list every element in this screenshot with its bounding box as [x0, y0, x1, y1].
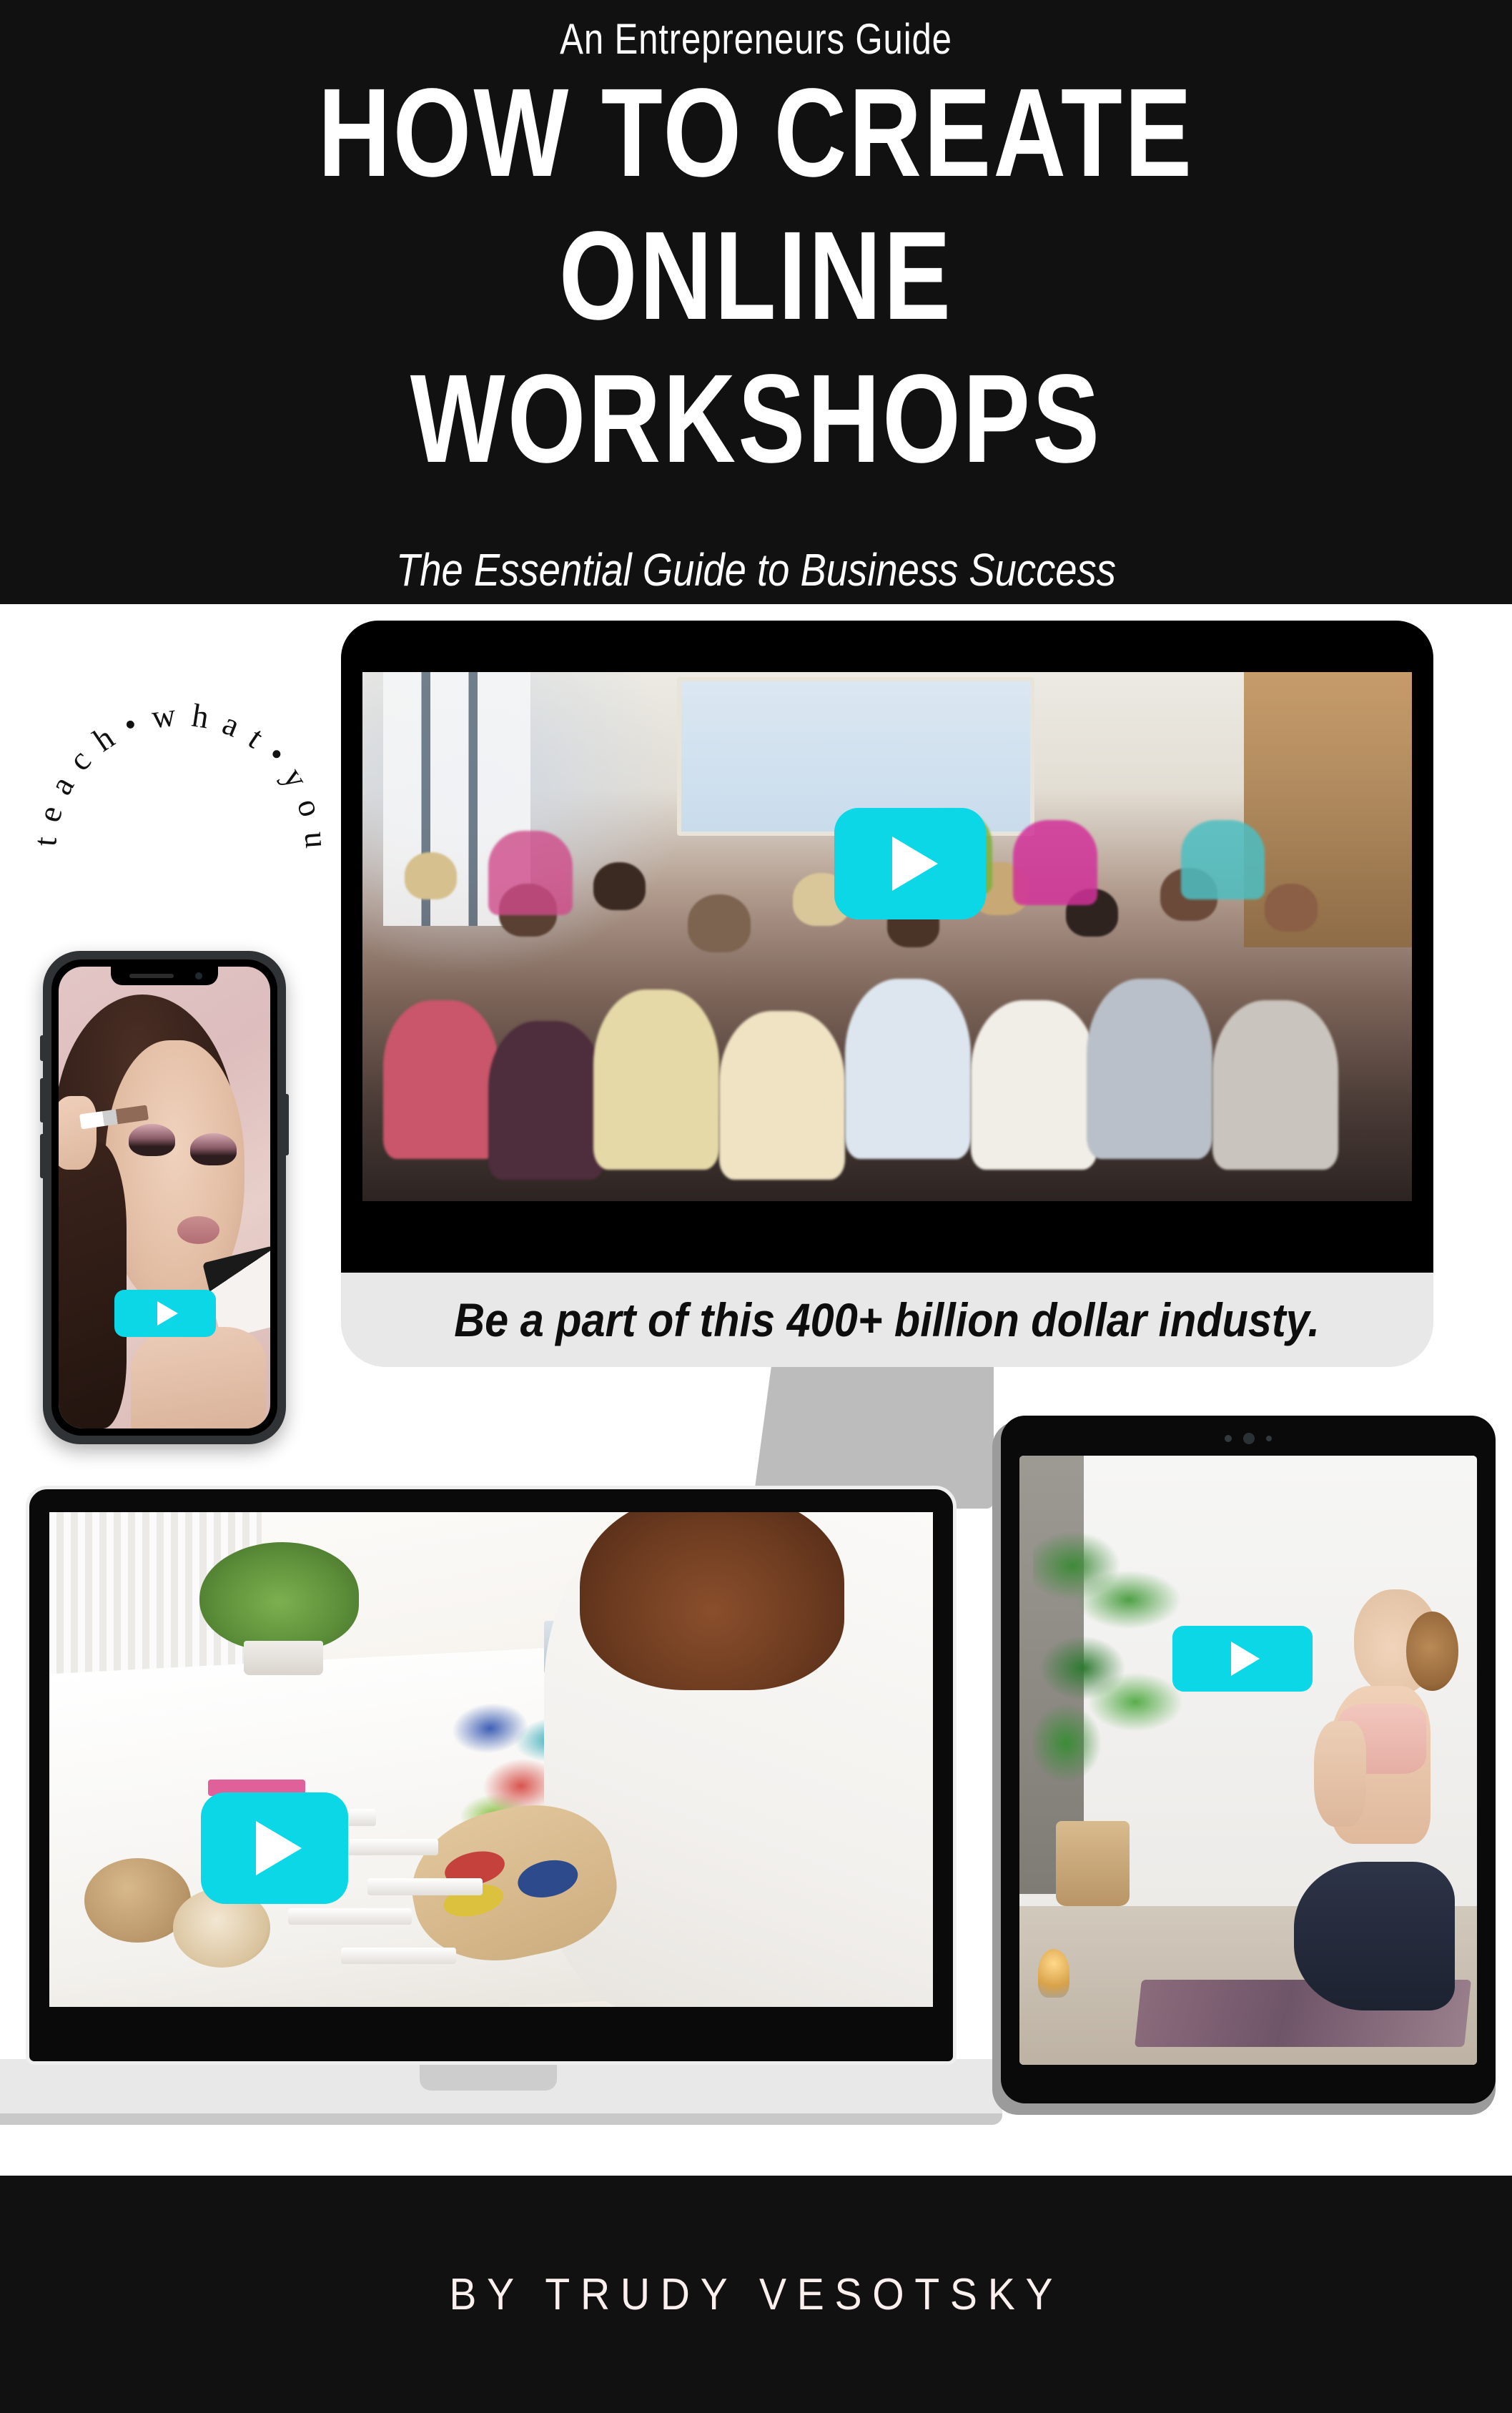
- play-icon[interactable]: [1172, 1626, 1313, 1692]
- phone-power-button: [284, 1094, 289, 1155]
- teach-what-you-love-badge: t e a c h • w h a t • y o u • l o v e: [29, 615, 329, 915]
- play-icon[interactable]: [834, 808, 986, 919]
- plant-pot: [244, 1641, 323, 1675]
- plant-basket: [1056, 1821, 1129, 1906]
- play-icon[interactable]: [201, 1792, 348, 1904]
- tablet-camera-icons: [1225, 1433, 1272, 1444]
- monitor-screen: [362, 672, 1412, 1201]
- eyebrow-text: An Entrepreneurs Guide: [136, 14, 1375, 64]
- phone-front-camera-icon: [195, 972, 202, 979]
- laptop-mockup: [26, 1486, 957, 2065]
- footer-band: BY TRUDY VESOTSKY: [0, 2176, 1512, 2413]
- tablet-camera-icon: [1243, 1433, 1255, 1444]
- potted-plant: [199, 1542, 358, 1651]
- play-triangle: [256, 1821, 302, 1875]
- title-line-2: ONLINE: [152, 213, 1361, 339]
- model-hand-lower: [131, 1327, 266, 1428]
- phone-notch: [111, 967, 218, 985]
- tablet-screen: [1019, 1456, 1477, 2065]
- phone-speaker: [129, 974, 174, 978]
- makeup-tutorial-photo: [59, 967, 270, 1428]
- person-leggings: [1294, 1862, 1455, 2011]
- tablet-sensor-icon: [1225, 1435, 1232, 1442]
- conference-audience-photo: [362, 672, 1412, 1201]
- phone-screen: [59, 967, 270, 1428]
- badge-arc-text: t e a c h • w h a t • y o u • l o v e: [29, 615, 329, 852]
- laptop-base-lip: [0, 2113, 1002, 2125]
- header-band: An Entrepreneurs Guide HOW TO CREATE ONL…: [0, 0, 1512, 604]
- play-triangle: [157, 1301, 178, 1326]
- artist-hair: [580, 1512, 845, 1690]
- author-byline: BY TRUDY VESOTSKY: [449, 2269, 1063, 2320]
- title-line-3: WORKSHOPS: [152, 356, 1361, 482]
- model-lips: [177, 1216, 219, 1244]
- title-line-1: HOW TO CREATE: [152, 70, 1361, 196]
- phone-volume-up-button: [40, 1078, 45, 1122]
- tagline-text: Be a part of this 400+ billion dollar in…: [455, 1293, 1320, 1347]
- badge-text-path: t e a c h • w h a t • y o u • l o v e: [29, 615, 329, 852]
- subtitle-text: The Essential Guide to Business Success: [114, 543, 1399, 596]
- person-hair-bun: [1406, 1612, 1458, 1690]
- model-eye-left: [129, 1124, 175, 1156]
- yoga-meditation-photo: [1019, 1456, 1477, 2065]
- tablet-indicator-icon: [1266, 1436, 1272, 1441]
- smartphone-mockup: [43, 951, 286, 1444]
- laptop-base: [0, 2059, 1002, 2125]
- laptop-screen: [49, 1512, 933, 2007]
- art-workshop-photo: [49, 1512, 933, 2007]
- tagline-banner: Be a part of this 400+ billion dollar in…: [341, 1273, 1433, 1367]
- book-cover: An Entrepreneurs Guide HOW TO CREATE ONL…: [0, 0, 1512, 2413]
- play-triangle: [1231, 1642, 1260, 1676]
- phone-volume-down-button: [40, 1134, 45, 1178]
- play-icon[interactable]: [114, 1290, 216, 1337]
- model-eye-right: [190, 1133, 237, 1165]
- desktop-monitor-mockup: [341, 621, 1433, 1273]
- phone-mute-switch: [40, 1035, 45, 1061]
- phone-bezel: [51, 959, 277, 1436]
- makeup-hand: [59, 1096, 97, 1170]
- tablet-mockup: [1001, 1416, 1496, 2103]
- candle: [1038, 1949, 1070, 1998]
- person-prayer-hands: [1314, 1721, 1366, 1826]
- play-triangle: [892, 837, 938, 891]
- model-hair-side: [59, 1142, 127, 1428]
